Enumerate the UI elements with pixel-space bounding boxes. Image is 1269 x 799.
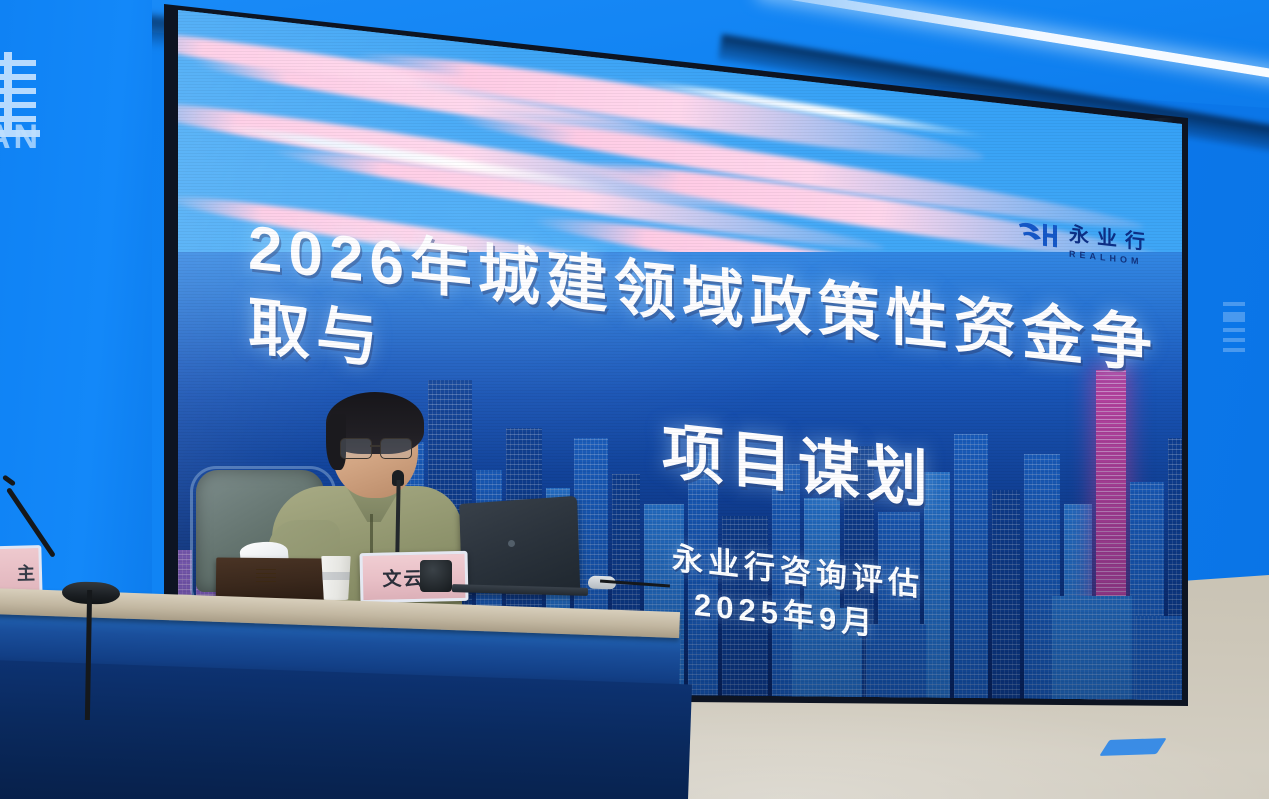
glasses-icon: [340, 438, 414, 458]
wall-sign-text: AN: [0, 118, 41, 157]
right-wall-sign-icon: [1221, 300, 1247, 362]
laptop-logo-icon: [508, 540, 515, 547]
nameplate: 文云波: [359, 551, 468, 603]
yh-monogram-icon: [1017, 217, 1059, 252]
desk-microphone-base: [420, 560, 452, 592]
nameplate-secondary-text: 主: [17, 559, 40, 586]
slide-footer: 永业行咨询评估 2025年9月: [672, 536, 924, 651]
screenshot-scene: AN: [0, 0, 1269, 799]
paper-cup-band: [322, 572, 350, 580]
table-skirt: [0, 660, 692, 799]
laptop[interactable]: [459, 496, 580, 592]
tissue-box-emblem-icon: [256, 566, 276, 582]
slide-logo: 永业行 REALHOM: [1017, 212, 1153, 268]
